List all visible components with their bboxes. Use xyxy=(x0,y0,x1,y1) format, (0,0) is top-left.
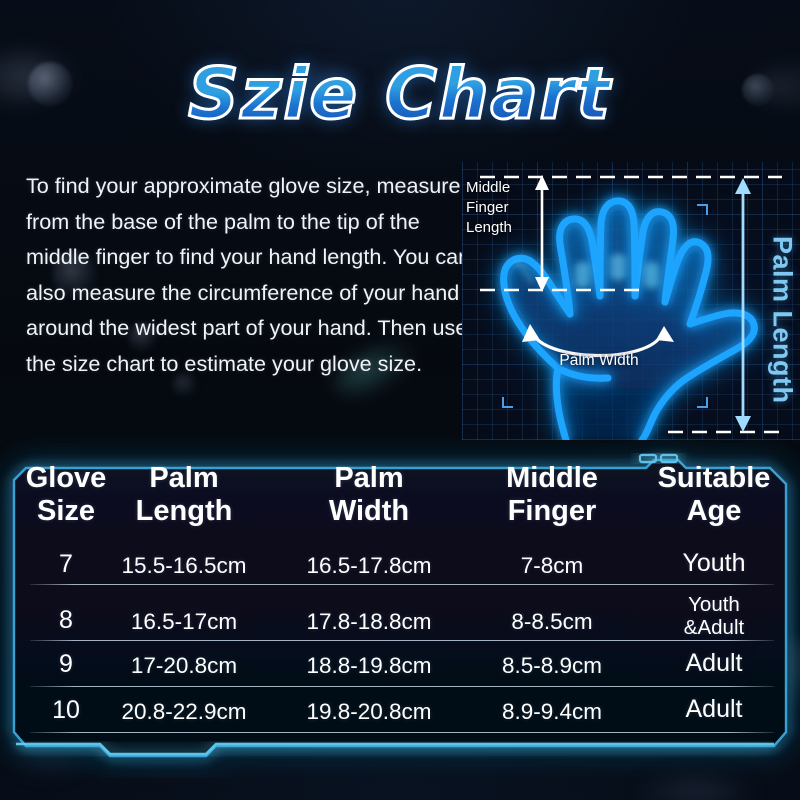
table-row[interactable]: 8 16.5-17cm 17.8-18.8cm 8-8.5cm Youth &A… xyxy=(12,588,788,640)
header-line: Glove xyxy=(14,462,118,495)
header-line: Finger xyxy=(464,495,640,528)
size-chart-infographic: Szie Chart To find your approximate glov… xyxy=(0,0,800,800)
page-title-text: Szie Chart xyxy=(188,52,611,136)
hand-measurement-diagram: Middle Finger Length Palm Width Palm Len… xyxy=(462,162,800,440)
header-line: Width xyxy=(274,495,464,528)
cell-suitable-age: Adult xyxy=(640,696,788,722)
column-header-glove-size: Glove Size xyxy=(14,462,118,528)
cell-glove-size: 8 xyxy=(14,607,118,633)
cell-palm-length: 17-20.8cm xyxy=(118,653,250,679)
cell-glove-size: 7 xyxy=(14,551,118,577)
row-separator xyxy=(30,686,774,687)
cell-palm-width: 18.8-19.8cm xyxy=(274,653,464,679)
cell-middle-finger: 8-8.5cm xyxy=(464,609,640,635)
header-line: Palm xyxy=(274,462,464,495)
cell-palm-length: 20.8-22.9cm xyxy=(118,699,250,725)
instructions-paragraph: To find your approximate glove size, mea… xyxy=(26,168,474,381)
cell-middle-finger: 8.5-8.9cm xyxy=(464,653,640,679)
cell-middle-finger: 8.9-9.4cm xyxy=(464,699,640,725)
cell-glove-size: 10 xyxy=(14,697,118,723)
cell-suitable-age: Youth &Adult xyxy=(640,593,788,639)
hud-corner-bracket-icon xyxy=(502,397,513,408)
mfl-line-1: Middle xyxy=(466,178,512,198)
table-header-row: Glove Size Palm Length Palm Width Middle… xyxy=(12,462,788,536)
cell-palm-width: 17.8-18.8cm xyxy=(274,609,464,635)
header-line: Suitable xyxy=(640,462,788,495)
cell-suitable-age: Adult xyxy=(640,650,788,676)
header-line: Size xyxy=(14,495,118,528)
table-row[interactable]: 7 15.5-16.5cm 16.5-17.8cm 7-8cm Youth xyxy=(12,546,788,588)
table-row[interactable]: 9 17-20.8cm 18.8-19.8cm 8.5-8.9cm Adult xyxy=(12,644,788,688)
column-header-palm-length: Palm Length xyxy=(118,462,250,528)
header-line: Length xyxy=(118,495,250,528)
cell-palm-length: 15.5-16.5cm xyxy=(118,553,250,579)
cell-glove-size: 9 xyxy=(14,651,118,677)
header-line: Palm xyxy=(118,462,250,495)
size-table-panel: Glove Size Palm Length Palm Width Middle… xyxy=(12,448,788,766)
size-table: Glove Size Palm Length Palm Width Middle… xyxy=(12,448,788,766)
palm-length-label: Palm Length xyxy=(760,202,800,438)
column-header-suitable-age: Suitable Age xyxy=(640,462,788,528)
age-line: &Adult xyxy=(640,616,788,639)
cell-suitable-age: Youth xyxy=(640,550,788,576)
header-line: Age xyxy=(640,495,788,528)
age-line: Youth xyxy=(640,593,788,616)
cell-palm-width: 16.5-17.8cm xyxy=(274,553,464,579)
column-header-middle-finger: Middle Finger xyxy=(464,462,640,528)
mfl-line-2: Finger xyxy=(466,198,512,218)
palm-length-label-text: Palm Length xyxy=(767,236,798,404)
table-row[interactable]: 10 20.8-22.9cm 19.8-20.8cm 8.9-9.4cm Adu… xyxy=(12,690,788,734)
row-separator xyxy=(30,584,774,585)
hud-corner-bracket-icon xyxy=(697,397,708,408)
hud-corner-bracket-icon xyxy=(697,204,708,215)
cell-palm-width: 19.8-20.8cm xyxy=(274,699,464,725)
mfl-line-3: Length xyxy=(466,218,512,238)
palm-length-arrow xyxy=(735,178,751,432)
column-header-palm-width: Palm Width xyxy=(274,462,464,528)
palm-width-label: Palm Width xyxy=(514,352,684,370)
middle-finger-length-label: Middle Finger Length xyxy=(466,178,512,238)
row-separator xyxy=(30,640,774,641)
page-title: Szie Chart xyxy=(0,52,800,136)
cell-palm-length: 16.5-17cm xyxy=(118,609,250,635)
cell-middle-finger: 7-8cm xyxy=(464,553,640,579)
header-line: Middle xyxy=(464,462,640,495)
row-separator xyxy=(30,732,774,733)
